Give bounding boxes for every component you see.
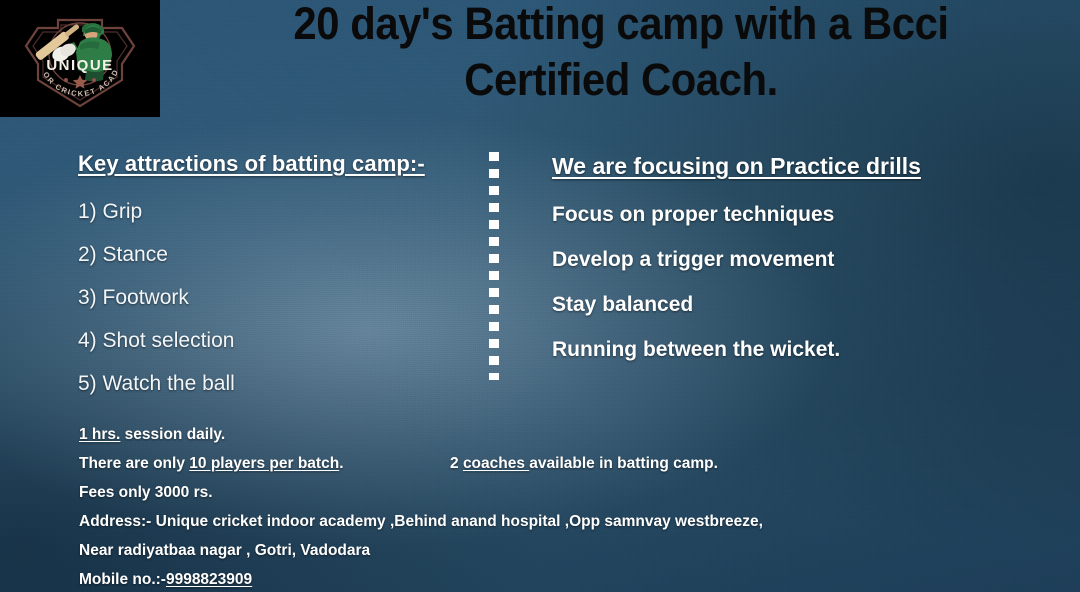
list-item: Stay balanced [552, 293, 1052, 317]
key-attractions-column: Key attractions of batting camp:- 1) Gri… [78, 150, 478, 396]
list-item: Develop a trigger movement [552, 248, 1052, 272]
session-text: session daily. [120, 426, 225, 443]
practice-drills-column: We are focusing on Practice drills Focus… [552, 152, 1052, 362]
list-item: 2) Stance [78, 243, 478, 267]
address-line-1: Address:- Unique cricket indoor academy … [79, 507, 1039, 536]
batting-camp-poster: UNIQUE INDOOR CRICKET ACADEMY 20 day's B… [0, 0, 1080, 592]
academy-logo: UNIQUE INDOOR CRICKET ACADEMY [0, 0, 160, 117]
batch-row: There are only 10 players per batch. 2 c… [79, 449, 1039, 478]
poster-title: 20 day's Batting camp with a Bcci Certif… [200, 0, 1043, 108]
practice-drills-heading: We are focusing on Practice drills [552, 152, 1052, 180]
coaches-count-label: coaches [463, 455, 529, 472]
key-attractions-heading: Key attractions of batting camp:- [78, 150, 478, 178]
session-row: 1 hrs. session daily. [79, 420, 1039, 449]
list-item: Running between the wicket. [552, 338, 1052, 362]
svg-text:UNIQUE: UNIQUE [46, 57, 113, 74]
session-duration: 1 hrs. [79, 426, 120, 443]
batch-size: 10 players per batch [189, 455, 339, 472]
coaches-prefix: 2 [450, 455, 463, 472]
list-item: Focus on proper techniques [552, 203, 1052, 227]
fees-row: Fees only 3000 rs. [79, 478, 1039, 507]
mobile-number[interactable]: 9998823909 [166, 571, 252, 588]
address-line-2: Near radiyatbaa nagar , Gotri, Vadodara [79, 536, 1039, 565]
batch-prefix: There are only [79, 455, 189, 472]
batch-suffix: . [339, 455, 343, 472]
cricket-academy-badge-icon: UNIQUE INDOOR CRICKET ACADEMY [14, 6, 146, 112]
mobile-row: Mobile no.:-9998823909 [79, 565, 1039, 592]
list-item: 4) Shot selection [78, 329, 478, 353]
list-item: 3) Footwork [78, 286, 478, 310]
coaches-suffix: available in batting camp. [529, 455, 718, 472]
camp-details: 1 hrs. session daily. There are only 10 … [79, 420, 1039, 592]
list-item: 5) Watch the ball [78, 372, 478, 396]
mobile-label: Mobile no.:- [79, 571, 166, 588]
list-item: 1) Grip [78, 200, 478, 224]
vertical-dashed-divider [489, 152, 499, 380]
coaches-note: 2 coaches available in batting camp. [450, 449, 718, 478]
